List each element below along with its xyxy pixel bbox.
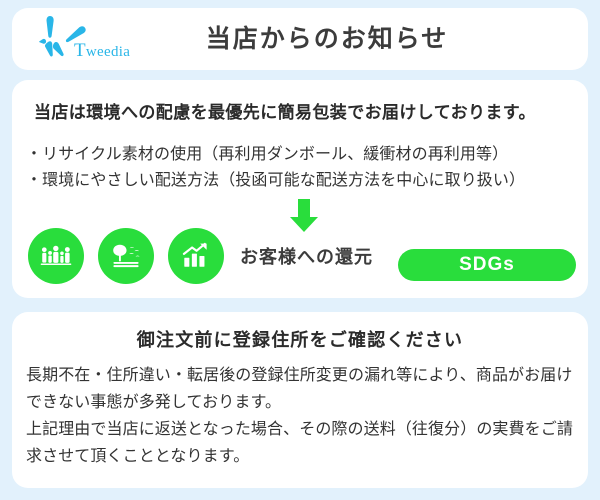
address-notice-title: 御注文前に登録住所をご確認ください <box>12 326 588 352</box>
brand-rest: weedia <box>86 44 130 60</box>
header-card: Tweedia 当店からのお知らせ <box>12 8 588 70</box>
address-notice-card: 御注文前に登録住所をご確認ください 長期不在・住所違い・転居後の登録住所変更の漏… <box>12 312 588 488</box>
tree-nature-icon <box>98 228 154 284</box>
brand-logo[interactable]: Tweedia <box>12 10 152 68</box>
eco-lead-statement: 当店は環境への配慮を最優先に簡易包装でお届けしております。 <box>34 98 536 123</box>
benefit-icon-row <box>28 228 224 284</box>
eco-bullet-list: ・リサイクル素材の使用（再利用ダンボール、緩衝材の再利用等） ・環境にやさしい配… <box>26 142 582 194</box>
growth-chart-icon <box>168 228 224 284</box>
notice-page: Tweedia 当店からのお知らせ 当店は環境への配慮を最優先に簡易包装でお届け… <box>0 0 600 500</box>
customer-reward-label: お客様への還元 <box>240 243 373 269</box>
sdgs-badge[interactable]: SDGs <box>398 249 576 281</box>
list-item: ・環境にやさしい配送方法（投函可能な配送方法を中心に取り扱い） <box>26 168 582 194</box>
arrow-down-icon <box>285 197 323 235</box>
address-notice-body: 長期不在・住所違い・転居後の登録住所変更の漏れ等により、商品がお届けできない事態… <box>26 362 578 470</box>
page-title: 当店からのお知らせ <box>152 27 588 52</box>
list-item: ・リサイクル素材の使用（再利用ダンボール、緩衝材の再利用等） <box>26 142 582 168</box>
notice-paragraph: 長期不在・住所違い・転居後の登録住所変更の漏れ等により、商品がお届けできない事態… <box>26 362 578 416</box>
brand-initial: T <box>74 40 86 61</box>
notice-paragraph: 上記理由で当店に返送となった場合、その際の送料（往復分）の実費をご請求させて頂く… <box>26 416 578 470</box>
people-group-icon <box>28 228 84 284</box>
brand-name: Tweedia <box>74 40 130 62</box>
